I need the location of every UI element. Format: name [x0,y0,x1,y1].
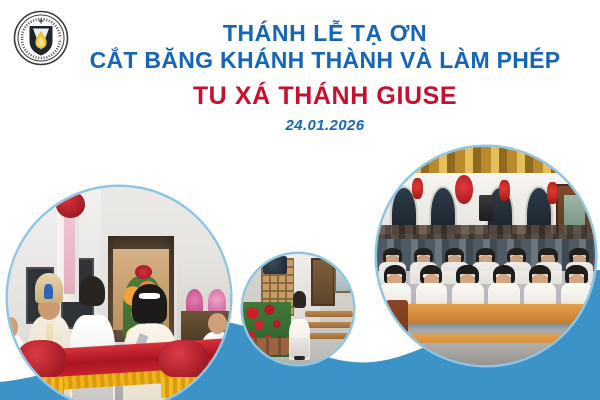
pew [305,311,353,317]
head [208,313,227,334]
title-line-3-venue: TU XÁ THÁNH GIUSE [70,80,580,113]
veil [293,291,306,307]
dark-panel [263,256,287,274]
photo-scene [243,254,353,364]
red-lantern [412,178,423,200]
red-lantern [547,182,558,204]
veil [132,284,167,323]
event-announcement-poster: THÁNH LỄ TẠ ƠN CẮT BĂNG KHÁNH THÀNH VÀ L… [0,0,600,400]
speaking-sister [289,291,310,359]
shoes [294,356,305,359]
red-rosette [56,191,85,218]
gold-fringe [19,377,64,397]
wooden-pew [386,304,595,324]
gilded-altar-screen [377,147,595,175]
flower-pots [245,338,291,356]
header-text-block: THÁNH LỄ TẠ ƠN CẮT BĂNG KHÁNH THÀNH VÀ L… [70,20,580,134]
title-line-1: THÁNH LỄ TẠ ƠN [70,20,580,47]
hair [79,276,105,306]
congregation-photo [377,147,595,365]
sister-speaking-photo [243,254,353,364]
title-line-2: CẮT BĂNG KHÁNH THÀNH VÀ LÀM PHÉP [70,47,580,74]
ribbon-cutting-photo [8,187,230,400]
skirt [290,338,309,357]
red-lantern [499,180,510,202]
gold-fringe [161,377,206,397]
wooden-door [311,258,335,306]
window [334,261,351,294]
ribbon-bow [17,340,66,378]
photo-scene [377,147,595,365]
seal-icon [13,10,69,66]
red-medallion [455,175,472,203]
pew [309,333,353,339]
loudspeaker [479,195,492,221]
photo-scene [8,187,230,400]
floor [377,343,595,365]
event-date: 24.01.2026 [70,117,580,134]
ribbon-bow [159,340,208,378]
head [8,317,18,337]
congregation-seal-logo [13,10,69,66]
mitre [35,273,63,304]
pew [307,322,353,328]
